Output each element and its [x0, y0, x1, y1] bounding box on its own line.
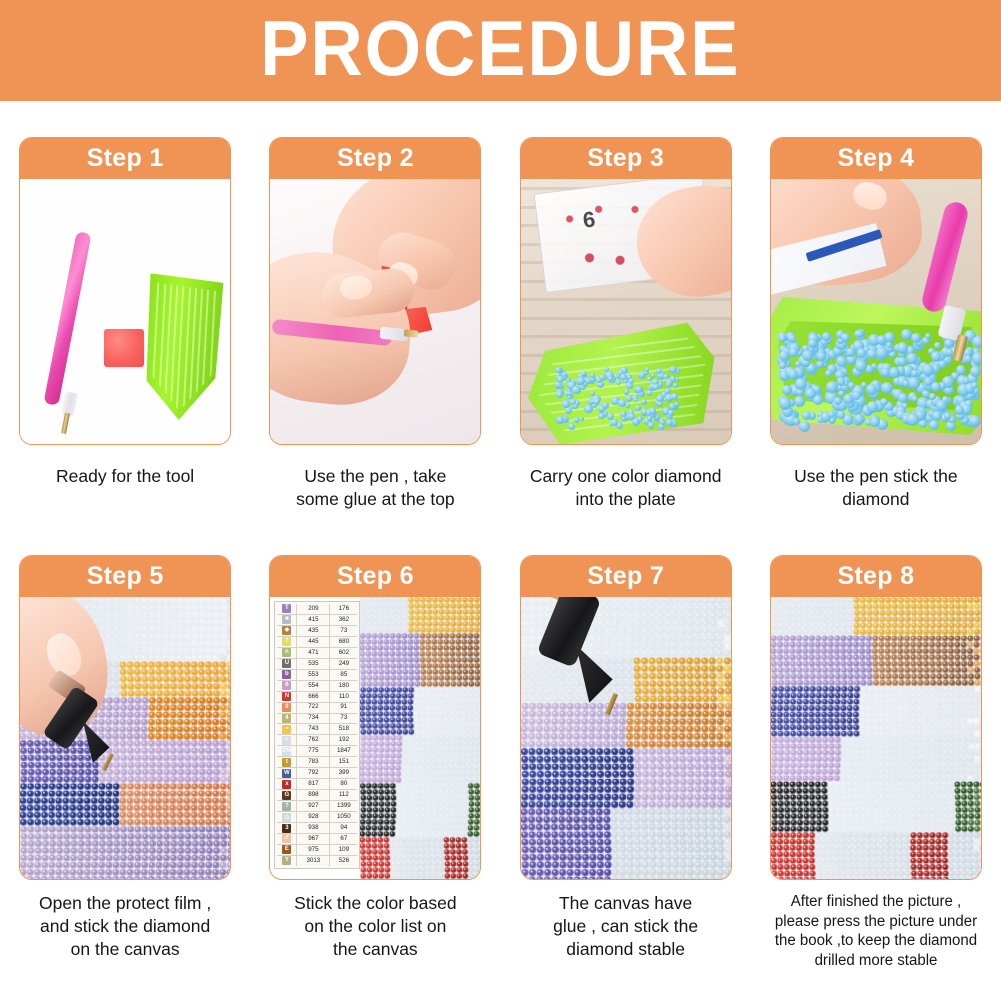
step-header-7: Step 7: [521, 556, 731, 597]
color-symbol-cell: ■: [277, 615, 297, 625]
step-cell-8: Step 8 After finished the picture , plea…: [751, 541, 1001, 1001]
finished-painting-photo: [771, 597, 981, 879]
green-tray-icon: [138, 273, 223, 422]
step-card-1: Step 1: [19, 137, 231, 445]
glue-clay-icon: [104, 329, 144, 367]
color-symbol-cell: W: [277, 768, 297, 778]
count-cell: 73: [330, 626, 357, 636]
dmc-code-cell: 722: [297, 703, 330, 713]
step-card-5: Step 5: [19, 555, 231, 880]
step-header-4: Step 4: [771, 138, 981, 179]
pick-diamond-photo: [771, 179, 981, 444]
dmc-code-cell: 938: [297, 823, 330, 833]
color-list-row: Y3013526: [277, 856, 357, 866]
step-image-6: T209176■415362◆43573?445680n471602U53524…: [270, 597, 480, 879]
caption-line: diamond stable: [513, 938, 738, 961]
step-image-2: [270, 179, 480, 444]
step-image-8: [771, 597, 981, 879]
step-image-1: [20, 179, 230, 444]
color-symbol-cell: x: [277, 779, 297, 789]
steps-row-bottom: Step 5 Open the pro: [0, 541, 1001, 1001]
tools-photo: [20, 179, 230, 444]
step-card-8: Step 8: [770, 555, 982, 880]
caption-line: into the plate: [513, 488, 738, 511]
pen-needle-icon: [404, 329, 419, 337]
count-cell: 85: [330, 670, 357, 680]
step-card-3: Step 3 6: [520, 137, 732, 445]
mosaic-canvas: [360, 597, 480, 879]
color-symbol-cell: N: [277, 692, 297, 702]
step-cell-4: Step 4: [751, 101, 1001, 541]
color-symbol-cell: U: [277, 659, 297, 669]
count-cell: 602: [330, 648, 357, 658]
caption-line: Ready for the tool: [13, 465, 238, 488]
step-header-8: Step 8: [771, 556, 981, 597]
caption-line: and stick the diamond: [13, 915, 238, 938]
steps-row-top: Step 1: [0, 101, 1001, 541]
color-symbol-cell: ⁄⁄: [277, 834, 297, 844]
dmc-code-cell: 775: [297, 746, 330, 756]
color-list-row: ⁄⁄96767: [277, 834, 357, 845]
procedure-infographic: PROCEDURE Step 1: [0, 0, 1001, 1001]
caption-line: Open the protect film ,: [13, 892, 238, 915]
count-cell: 680: [330, 637, 357, 647]
color-symbol-cell: ?: [277, 801, 297, 811]
dmc-code-cell: 554: [297, 681, 330, 691]
color-list-row: ?9271399: [277, 801, 357, 812]
step-caption-5: Open the protect film , and stick the di…: [13, 892, 238, 961]
color-list-row: ■415362: [277, 615, 357, 626]
dmc-code-cell: 209: [297, 604, 330, 614]
color-list-row: N666110: [277, 692, 357, 703]
count-cell: 518: [330, 724, 357, 734]
color-list-row: =762192: [277, 735, 357, 746]
dmc-code-cell: 928: [297, 812, 330, 822]
step-header-3: Step 3: [521, 138, 731, 179]
caption-line: drilled more stable: [759, 951, 992, 971]
dmc-code-cell: 415: [297, 615, 330, 625]
dmc-code-cell: 445: [297, 637, 330, 647]
color-list-photo: T209176■415362◆43573?445680n471602U53524…: [270, 597, 480, 879]
step-header-5: Step 5: [20, 556, 230, 597]
dmc-code-cell: 967: [297, 834, 330, 844]
step-image-3: 6: [521, 179, 731, 444]
color-list-row: 6554180: [277, 681, 357, 692]
color-symbol-cell: 3: [277, 823, 297, 833]
color-symbol-cell: E: [277, 845, 297, 855]
step-image-4: [771, 179, 981, 444]
dmc-code-cell: 435: [297, 626, 330, 636]
caption-line: glue , can stick the: [513, 915, 738, 938]
color-list-row: b55385: [277, 670, 357, 681]
count-cell: 249: [330, 659, 357, 669]
caption-line: After finished the picture ,: [759, 892, 992, 912]
count-cell: 192: [330, 735, 357, 745]
color-symbol-cell: =: [277, 735, 297, 745]
dmc-code-cell: 743: [297, 724, 330, 734]
step-header-1: Step 1: [20, 138, 230, 179]
caption-line: the canvas: [263, 938, 488, 961]
step-cell-6: Step 6 T209176■415362◆43573?445680n47160…: [250, 541, 500, 1001]
count-cell: 1050: [330, 812, 357, 822]
dmc-code-cell: 927: [297, 801, 330, 811]
step-caption-4: Use the pen stick the diamond: [763, 465, 988, 511]
page-header-banner: PROCEDURE: [0, 0, 1001, 101]
color-symbol-cell: n: [277, 648, 297, 658]
caption-line: on the color list on: [263, 915, 488, 938]
step-image-7: [521, 597, 731, 879]
mosaic-canvas: [771, 597, 981, 879]
color-list-row: T209176: [277, 604, 357, 615]
step-image-5: [20, 597, 230, 879]
step-header-6: Step 6: [270, 556, 480, 597]
color-symbol-cell: G: [277, 790, 297, 800]
caption-line: some glue at the top: [263, 488, 488, 511]
step-caption-1: Ready for the tool: [13, 465, 238, 488]
color-list-row: t783151: [277, 757, 357, 768]
step-cell-2: Step 2: [250, 101, 500, 541]
caption-line: please press the picture under: [759, 912, 992, 932]
step-card-2: Step 2: [269, 137, 481, 445]
pour-diamonds-photo: 6: [521, 179, 731, 444]
step-caption-3: Carry one color diamond into the plate: [513, 465, 738, 511]
color-list-row: n471602: [277, 648, 357, 659]
caption-line: Carry one color diamond: [513, 465, 738, 488]
stick-diamond-photo: [20, 597, 230, 879]
color-list-table: T209176■415362◆43573?445680n471602U53524…: [274, 601, 360, 869]
count-cell: 80: [330, 779, 357, 789]
step-cell-3: Step 3 6: [501, 101, 751, 541]
count-cell: 1399: [330, 801, 357, 811]
color-symbol-cell: T: [277, 604, 297, 614]
count-cell: 1847: [330, 746, 357, 756]
color-symbol-cell: b: [277, 670, 297, 680]
color-symbol-cell: 4: [277, 714, 297, 724]
step-card-6: Step 6 T209176■415362◆43573?445680n47160…: [269, 555, 481, 880]
caption-line: Use the pen stick the: [763, 465, 988, 488]
caption-line: Stick the color based: [263, 892, 488, 915]
dmc-code-cell: 3013: [297, 856, 330, 866]
steps-grid: Step 1: [0, 101, 1001, 1001]
dmc-code-cell: 783: [297, 757, 330, 767]
count-cell: 176: [330, 604, 357, 614]
dmc-code-cell: 898: [297, 790, 330, 800]
pen-tip-assembly: [57, 391, 78, 435]
color-list-row: U535249: [277, 659, 357, 670]
count-cell: 180: [330, 681, 357, 691]
color-symbol-cell: •: [277, 724, 297, 734]
count-cell: 362: [330, 615, 357, 625]
count-cell: 109: [330, 845, 357, 855]
color-symbol-cell: ◆: [277, 626, 297, 636]
color-list-row: II72291: [277, 703, 357, 714]
bag-number-label: 6: [581, 206, 596, 233]
dmc-code-cell: 792: [297, 768, 330, 778]
step-cell-1: Step 1: [0, 101, 250, 541]
color-list-row: 393894: [277, 823, 357, 834]
color-list-row: ◆43573: [277, 626, 357, 637]
count-cell: 526: [330, 856, 357, 866]
pink-pen-icon: [44, 231, 92, 406]
step-cell-5: Step 5 Open the pro: [0, 541, 250, 1001]
step-card-4: Step 4: [770, 137, 982, 445]
dmc-code-cell: 975: [297, 845, 330, 855]
count-cell: 399: [330, 768, 357, 778]
color-list-row: W792399: [277, 768, 357, 779]
count-cell: 151: [330, 757, 357, 767]
count-cell: 94: [330, 823, 357, 833]
count-cell: 91: [330, 703, 357, 713]
caption-line: on the canvas: [13, 938, 238, 961]
glue-pickup-photo: [270, 179, 480, 444]
color-list-row: x81780: [277, 779, 357, 790]
sticky-canvas-photo: [521, 597, 731, 879]
color-symbol-cell: 6: [277, 681, 297, 691]
color-list-row: E975109: [277, 845, 357, 856]
color-symbol-cell: Y: [277, 856, 297, 866]
caption-line: the book ,to keep the diamond: [759, 931, 992, 951]
dmc-code-cell: 666: [297, 692, 330, 702]
color-symbol-cell: II: [277, 703, 297, 713]
count-cell: 67: [330, 834, 357, 844]
color-symbol-cell: t: [277, 757, 297, 767]
caption-line: Use the pen , take: [263, 465, 488, 488]
color-list-row: ?445680: [277, 637, 357, 648]
color-symbol-cell: ?: [277, 637, 297, 647]
step-caption-6: Stick the color based on the color list …: [263, 892, 488, 961]
color-symbol-cell: 2%: [277, 746, 297, 756]
color-list-row: 473473: [277, 714, 357, 725]
page-title: PROCEDURE: [260, 9, 740, 93]
color-symbol-cell: △: [277, 812, 297, 822]
count-cell: 110: [330, 692, 357, 702]
color-list-row: •743518: [277, 724, 357, 735]
caption-line: The canvas have: [513, 892, 738, 915]
step-caption-2: Use the pen , take some glue at the top: [263, 465, 488, 511]
step-caption-8: After finished the picture , please pres…: [759, 892, 992, 970]
step-header-2: Step 2: [270, 138, 480, 179]
dmc-code-cell: 734: [297, 714, 330, 724]
step-card-7: Step 7: [520, 555, 732, 880]
dmc-code-cell: 553: [297, 670, 330, 680]
caption-line: diamond: [763, 488, 988, 511]
color-list-row: 2%7751847: [277, 746, 357, 757]
color-list-row: G898112: [277, 790, 357, 801]
step-caption-7: The canvas have glue , can stick the dia…: [513, 892, 738, 961]
dmc-code-cell: 535: [297, 659, 330, 669]
dmc-code-cell: 762: [297, 735, 330, 745]
pen-needle-icon: [61, 413, 70, 435]
count-cell: 112: [330, 790, 357, 800]
color-list-row: △9281050: [277, 812, 357, 823]
count-cell: 73: [330, 714, 357, 724]
dmc-code-cell: 471: [297, 648, 330, 658]
dmc-code-cell: 817: [297, 779, 330, 789]
step-cell-7: Step 7 The canvas have glue , can stick: [501, 541, 751, 1001]
